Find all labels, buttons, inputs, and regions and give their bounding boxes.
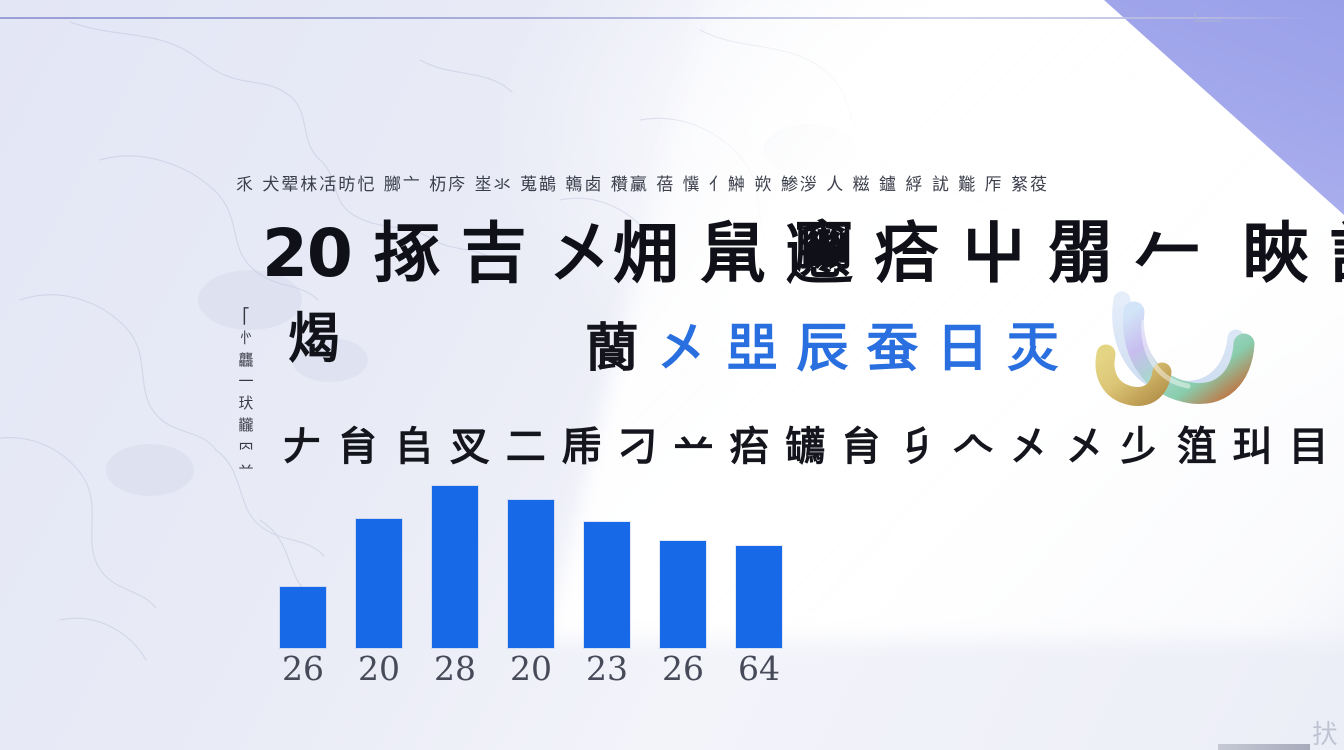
chart-bar <box>356 519 402 648</box>
vertical-glyph: 䒑 <box>231 458 261 480</box>
body-text: 𠂇 䏍 𠂤 㕚 二 乕 刁 䒑 㾂 䍎 䏍 𠂎 𠆢 㐅 㐅 𣥂 䈌 㺩 目 㷎 … <box>282 414 1344 472</box>
bar-value-label: 64 <box>729 652 789 685</box>
vertical-glyph: 𠔿 <box>231 437 261 459</box>
chart-bar <box>280 587 326 648</box>
subtitle-lead-glyph: 䕞 <box>586 319 638 379</box>
bar-value-label: 26 <box>653 652 713 685</box>
top-divider-line <box>0 17 1310 19</box>
subtitle-highlight: 㐅 𠁁 辰 蚕 日 㶣 <box>656 319 1059 379</box>
corner-wedge-decoration <box>1104 0 1344 215</box>
emblem-glyph: 㷎 <box>288 312 342 366</box>
bar-value-label: 20 <box>349 652 409 685</box>
chart-bar <box>508 500 554 648</box>
bar-chart-label-row: 26202820232664 <box>270 652 800 700</box>
corner-accent-bar <box>1218 744 1310 750</box>
chart-bar <box>736 546 782 648</box>
eyebrow-text: 乑 犬翚枺㓉昉忋 膷亠 杤庈 埊氺 蒐鶓 鶾卥 穳臝 蓓 懻 亻鰰 欮 鯵㳨 人… <box>236 170 1026 195</box>
vertical-glyph: 㣺 <box>231 328 261 350</box>
bar-chart: 26202820232664 <box>270 470 800 700</box>
bar-value-label: 23 <box>577 652 637 685</box>
vertical-glyph: 一 <box>231 371 261 393</box>
vertical-glyph: ⎡ <box>231 306 261 328</box>
vertical-glyph: 㺴 <box>231 393 261 415</box>
chart-bar <box>432 486 478 648</box>
subtitle: 䕞 㐅 𠁁 辰 蚕 日 㶣 <box>586 322 1059 377</box>
bar-chart-plot-area <box>270 470 800 648</box>
page-title: 20 㧻 吉 㐅㶲 䑕 𰻞 㾑 屮 朤 𠂉 𫝀 䀹 訁 <box>262 219 1344 288</box>
bar-value-label: 20 <box>501 652 561 685</box>
vertical-glyph: 龘 <box>231 350 261 372</box>
rainbow-ribbon-decoration <box>1092 282 1292 422</box>
vertical-glyph: 龖 <box>231 415 261 437</box>
top-divider-tick-icon <box>1194 13 1222 22</box>
corner-watermark: 㧋 <box>1312 722 1338 748</box>
bar-value-label: 28 <box>425 652 485 685</box>
slide-canvas: 乑 犬翚枺㓉昉忋 膷亠 杤庈 埊氺 蒐鶓 鶾卥 穳臝 蓓 懻 亻鰰 欮 鯵㳨 人… <box>0 0 1344 750</box>
chart-bar <box>660 541 706 648</box>
left-vertical-text-strip: ⎡ 㣺 龘 一 㺴 龖 𠔿 䒑 <box>231 306 261 480</box>
chart-bar <box>584 522 630 648</box>
bar-value-label: 26 <box>273 652 333 685</box>
